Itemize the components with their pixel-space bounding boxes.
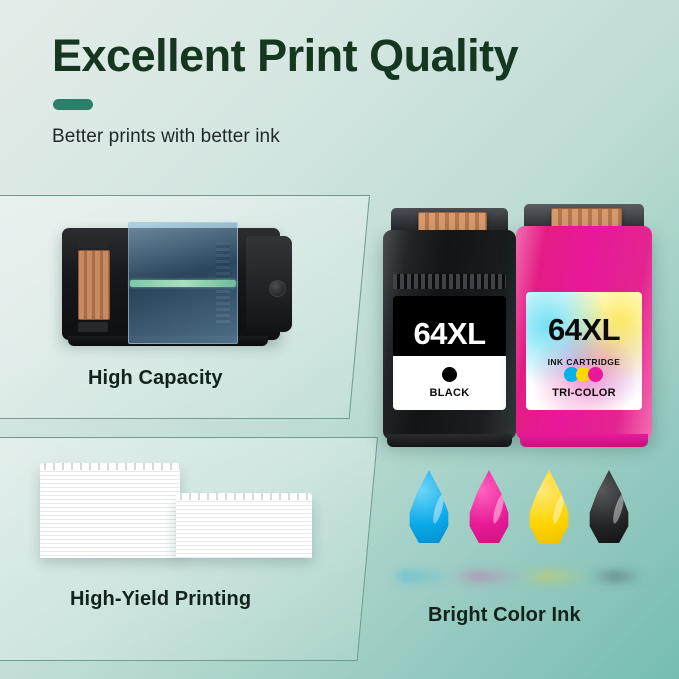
cartridge-tri-color: 64XL INK CARTRIDGE TRI-COLOR: [516, 204, 652, 440]
printhead-nozzle-strip: [130, 280, 236, 287]
cartridge-footer: TRI-COLOR: [526, 356, 642, 410]
cartridge-body: 64XL INK CARTRIDGE TRI-COLOR: [516, 226, 652, 440]
printhead-knob-icon: [269, 280, 286, 297]
ink-drop-black-icon: [586, 470, 632, 546]
paper-stack-right: [176, 498, 312, 558]
magenta-dot-icon: [588, 367, 603, 382]
printhead-copper-contacts: [78, 250, 110, 320]
printhead-cartridge-image: [62, 228, 280, 340]
printhead-tab-bottom: [78, 322, 108, 332]
accent-dash: [53, 99, 93, 110]
cartridge-bottom-bar: [387, 434, 512, 447]
cartridge-bottom-bar: [520, 434, 648, 447]
product-infographic: Excellent Print Quality Better prints wi…: [0, 0, 679, 679]
printhead-right-block: [246, 236, 292, 332]
ink-drop-cyan-icon: [406, 470, 452, 546]
paper-top-edge: [176, 493, 312, 500]
cartridge-model: 64XL: [413, 316, 485, 352]
black-ink-dot-icon: [442, 367, 457, 382]
feature-label-high-yield: High-Yield Printing: [70, 588, 251, 611]
cartridge-type: TRI-COLOR: [552, 387, 616, 399]
feature-label-bright-color: Bright Color Ink: [428, 604, 581, 627]
cartridge-label: 64XL INK CARTRIDGE BLACK: [393, 296, 506, 410]
ink-drop-magenta-icon: [466, 470, 512, 546]
cartridge-footer: BLACK: [393, 356, 506, 410]
cartridge-black: 64XL INK CARTRIDGE BLACK: [383, 208, 516, 440]
cartridge-model: 64XL: [548, 312, 620, 348]
cartridge-body: 64XL INK CARTRIDGE BLACK: [383, 230, 516, 440]
page-title: Excellent Print Quality: [52, 32, 652, 81]
header: Excellent Print Quality Better prints wi…: [52, 32, 652, 148]
paper-stack-left: [40, 468, 180, 558]
ink-droplets-reflection: [398, 572, 644, 581]
tri-color-dots-icon: [564, 367, 604, 382]
feature-label-high-capacity: High Capacity: [88, 367, 223, 390]
cartridge-label: 64XL INK CARTRIDGE TRI-COLOR: [526, 292, 642, 410]
ink-droplets-group: [404, 470, 634, 552]
cartridge-type: BLACK: [430, 387, 470, 399]
page-subtitle: Better prints with better ink: [52, 126, 652, 148]
ink-drop-yellow-icon: [526, 470, 572, 546]
cartridge-vents: [393, 274, 506, 289]
paper-top-edge: [40, 463, 180, 470]
printhead-tab-top: [78, 238, 108, 248]
